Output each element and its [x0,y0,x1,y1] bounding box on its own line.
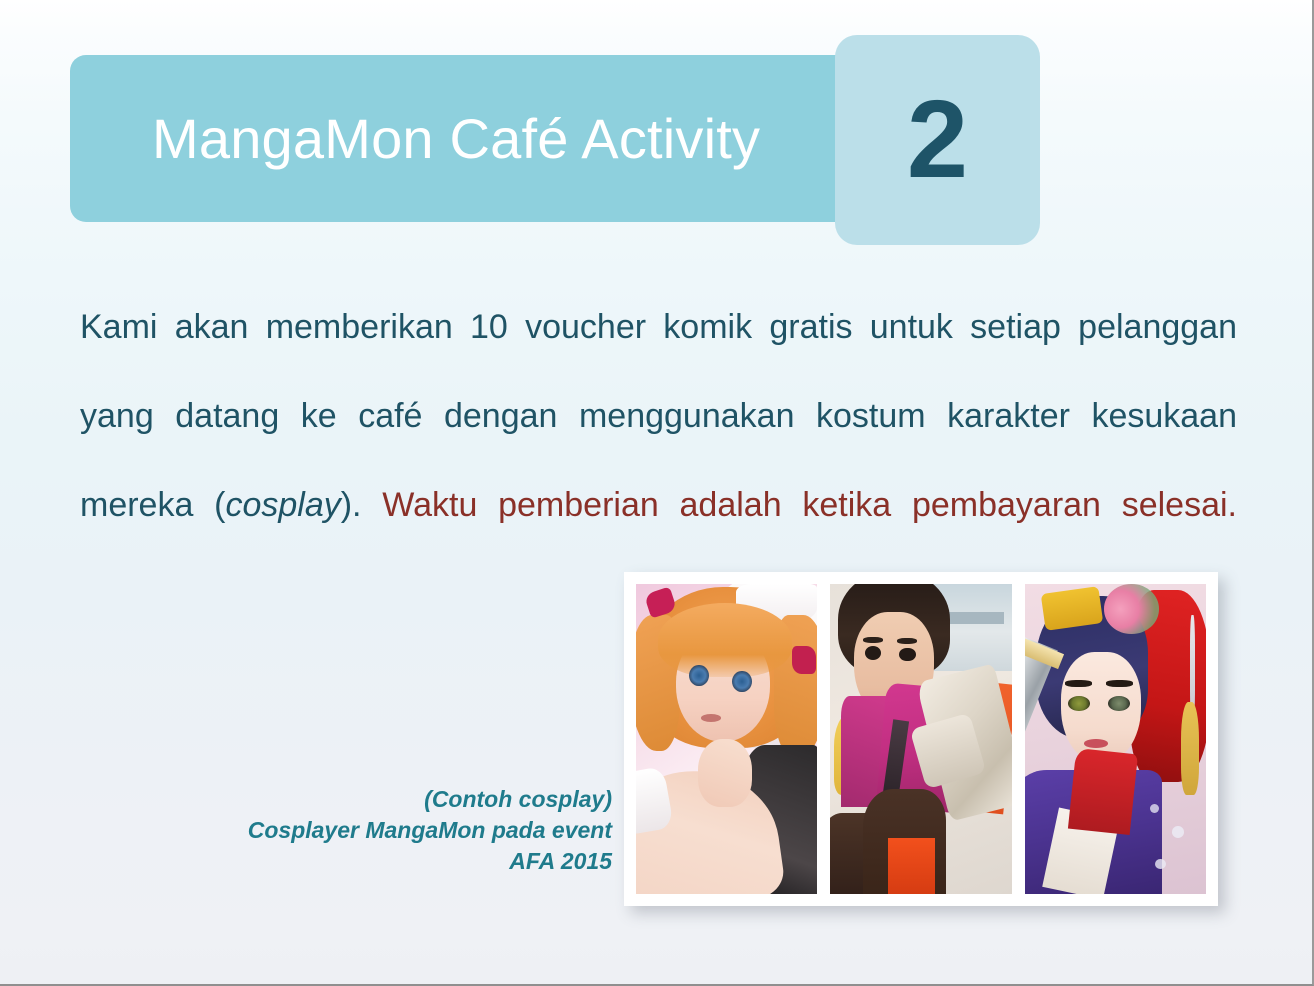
photo3-brow-right [1106,680,1133,687]
photo3-eye-right [1108,696,1130,712]
photo3-hair-flowers [1104,584,1158,634]
photo3-eye-left [1068,696,1090,712]
body-segment-normal-2: ). [341,486,383,524]
slide: MangaMon Café Activity 2 Kami akan membe… [0,0,1314,986]
photo2-brow-left [863,637,883,643]
caption-line-2: Cosplayer MangaMon pada event [120,815,612,846]
photo3-lips [1084,739,1108,748]
photo3-collar-red [1068,748,1138,835]
photo2-eye-left [865,646,881,660]
photo3-pattern-dot-1 [1172,826,1185,838]
cosplay-photo-2 [830,584,1011,894]
photo1-mouth [701,714,721,721]
photo2-eye-right [899,648,915,662]
slide-header: MangaMon Café Activity 2 [0,0,1314,260]
photo1-hand [698,739,752,807]
photo-collage [624,572,1218,906]
photo2-scarf [888,838,935,894]
caption-line-1: (Contoh cosplay) [120,784,612,815]
photo1-ribbon-right [792,646,816,674]
photo3-tassel [1181,702,1199,795]
body-segment-italic-cosplay: cosplay [225,486,340,524]
photo1-eye-left [689,665,709,687]
caption-line-3: AFA 2015 [120,846,612,877]
photo3-brow-left [1065,680,1092,687]
photo-caption: (Contoh cosplay) Cosplayer MangaMon pada… [120,784,612,877]
page-title: MangaMon Café Activity [152,55,852,222]
body-segment-highlight: Waktu pemberian adalah ketika pembayaran… [382,486,1237,524]
cosplay-photo-1 [636,584,817,894]
photo1-fringe [658,603,792,677]
step-number-value: 2 [907,85,968,195]
step-number-badge: 2 [835,35,1040,245]
photo3-pattern-dot-2 [1155,859,1166,870]
cosplay-photo-3 [1025,584,1206,894]
